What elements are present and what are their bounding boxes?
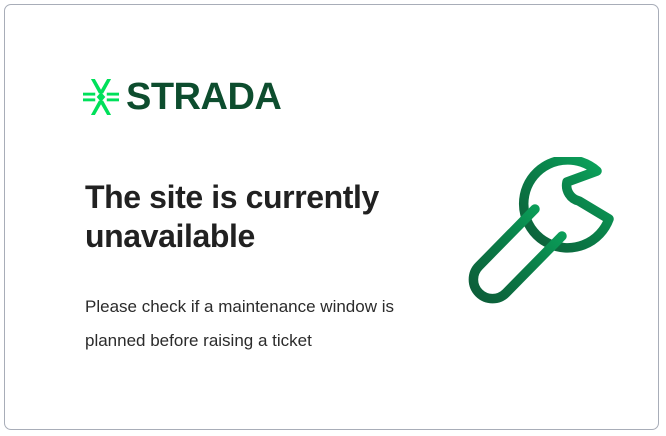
error-page-screen: STRADA The site is currently unavailable… <box>0 0 666 436</box>
brand-wordmark: STRADA <box>126 78 281 116</box>
page-description: Please check if a maintenance window is … <box>85 290 395 358</box>
wrench-icon <box>457 157 623 317</box>
maintenance-card: STRADA The site is currently unavailable… <box>4 4 659 430</box>
strada-asterisk-icon <box>83 79 119 115</box>
page-title: The site is currently unavailable <box>85 178 415 256</box>
brand-logo-lockup: STRADA <box>83 75 281 119</box>
